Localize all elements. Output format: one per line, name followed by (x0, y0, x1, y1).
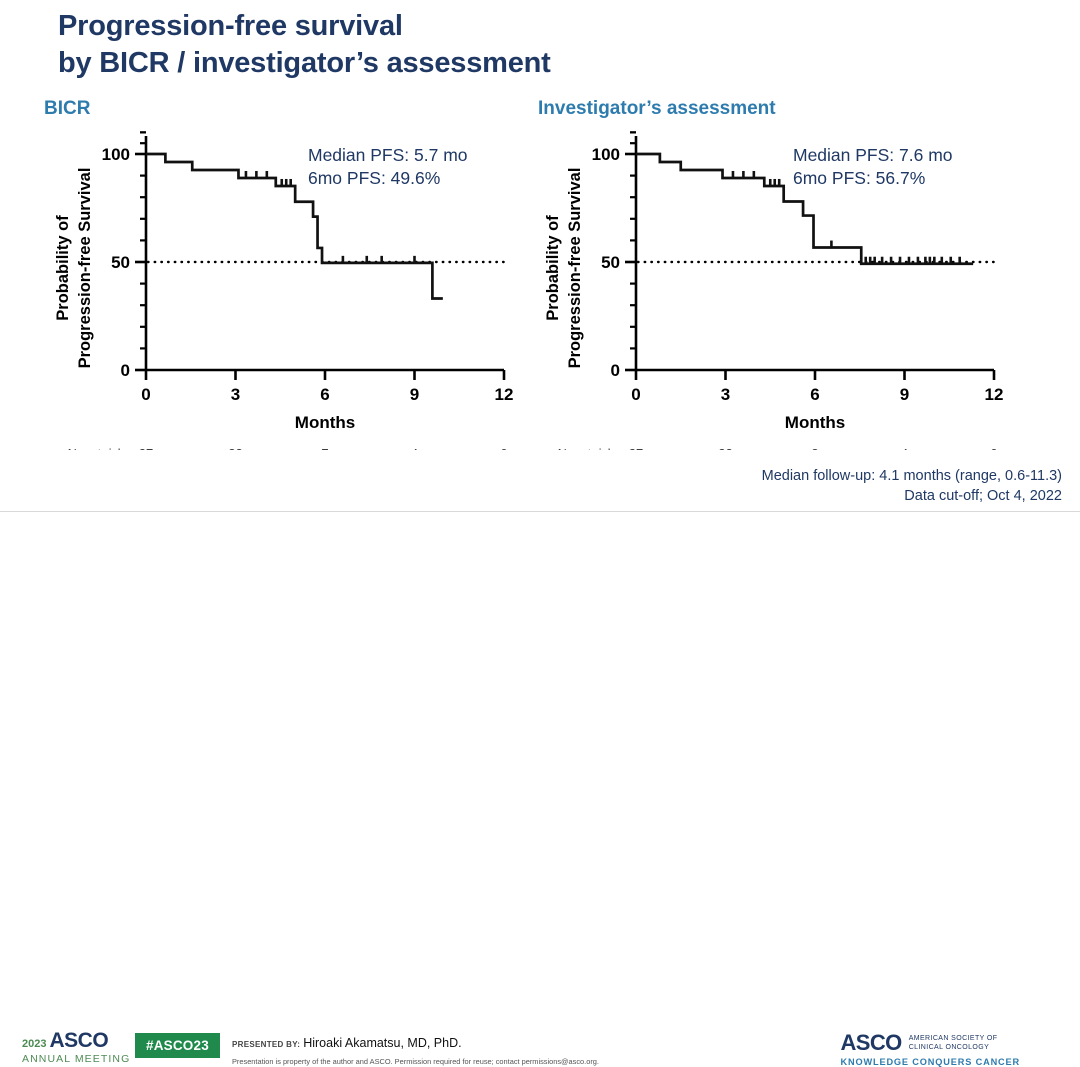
risk-table-value: 0 (990, 446, 997, 450)
y-axis-title-line-1: Probability of (54, 215, 72, 321)
presenter-block: PRESENTED BY:Hiroaki Akamatsu, MD, PhD. … (232, 1034, 599, 1066)
permission-notice: Presentation is property of the author a… (232, 1057, 599, 1066)
annotation-investigator: Median PFS: 7.6 mo 6mo PFS: 56.7% (793, 144, 953, 190)
asco-annual-meeting-logo: 2023ASCO ANNUAL MEETING (22, 1030, 130, 1065)
x-tick-label: 0 (141, 385, 150, 404)
footnote-median-followup: Median follow-up: 4.1 months (range, 0.6… (762, 466, 1062, 486)
y-axis-title-line-1: Probability of (544, 215, 562, 321)
y-axis-title-line-2: Progression-free Survival (76, 168, 94, 369)
slide-root: Progression-free survival by BICR / inve… (0, 0, 1080, 564)
slide-footer: 2023ASCO ANNUAL MEETING #ASCO23 PRESENTE… (0, 512, 1080, 564)
risk-table-value: 22 (228, 446, 242, 450)
footnote-data-cutoff: Data cut-off; Oct 4, 2022 (762, 486, 1062, 506)
meeting-brand: ASCO (49, 1029, 108, 1052)
risk-table-value: 7 (321, 446, 328, 450)
risk-table-value: 27 (629, 446, 643, 450)
risk-table-value: 22 (718, 446, 732, 450)
x-tick-label: 9 (900, 385, 909, 404)
title-line-1: Progression-free survival (58, 8, 1008, 45)
hashtag-badge: #ASCO23 (135, 1033, 220, 1058)
y-tick-label: 0 (121, 361, 130, 380)
annotation-6mo-pfs-investigator: 6mo PFS: 56.7% (793, 167, 953, 190)
y-tick-label: 100 (102, 145, 130, 164)
title-line-2: by BICR / investigator’s assessment (58, 45, 1008, 82)
risk-table-value: 8 (811, 446, 818, 450)
y-axis-title-line-2: Progression-free Survival (566, 168, 584, 369)
page-title: Progression-free survival by BICR / inve… (58, 8, 1008, 82)
risk-table-label: No. at risk (558, 447, 615, 450)
asco-society-name: AMERICAN SOCIETY OFCLINICAL ONCOLOGY (909, 1034, 998, 1053)
annotation-median-pfs-investigator: Median PFS: 7.6 mo (793, 144, 953, 167)
x-tick-label: 3 (721, 385, 730, 404)
y-tick-label: 0 (611, 361, 620, 380)
chart-header-investigator: Investigator’s assessment (538, 98, 776, 120)
x-tick-label: 12 (985, 385, 1004, 404)
society-line-2: CLINICAL ONCOLOGY (909, 1044, 989, 1051)
y-tick-label: 100 (592, 145, 620, 164)
presenter-name: Hiroaki Akamatsu, MD, PhD. (303, 1036, 461, 1050)
risk-table-value: 27 (139, 446, 153, 450)
chart-header-bicr: BICR (44, 98, 90, 120)
y-tick-label: 50 (601, 253, 620, 272)
meeting-year: 2023 (22, 1038, 46, 1050)
risk-table-value: 4 (411, 446, 418, 450)
slide-footnotes: Median follow-up: 4.1 months (range, 0.6… (762, 466, 1062, 506)
asco-wordmark: ASCO (841, 1032, 902, 1054)
asco-tagline: KNOWLEDGE CONQUERS CANCER (841, 1058, 1020, 1067)
asco-society-logo: ASCOAMERICAN SOCIETY OFCLINICAL ONCOLOGY… (841, 1032, 1020, 1067)
meeting-subtitle: ANNUAL MEETING (22, 1054, 130, 1065)
x-axis-title: Months (785, 413, 845, 432)
society-line-1: AMERICAN SOCIETY OF (909, 1035, 998, 1042)
annotation-bicr: Median PFS: 5.7 mo 6mo PFS: 49.6% (308, 144, 468, 190)
x-axis-title: Months (295, 413, 355, 432)
annotation-median-pfs-bicr: Median PFS: 5.7 mo (308, 144, 468, 167)
x-tick-label: 3 (231, 385, 240, 404)
risk-table-value: 4 (901, 446, 908, 450)
presented-by-label: PRESENTED BY: (232, 1040, 300, 1049)
y-tick-label: 50 (111, 253, 130, 272)
x-tick-label: 0 (631, 385, 640, 404)
x-tick-label: 6 (320, 385, 329, 404)
x-tick-label: 6 (810, 385, 819, 404)
annotation-6mo-pfs-bicr: 6mo PFS: 49.6% (308, 167, 468, 190)
x-tick-label: 9 (410, 385, 419, 404)
risk-table-label: No. at risk (68, 447, 125, 450)
